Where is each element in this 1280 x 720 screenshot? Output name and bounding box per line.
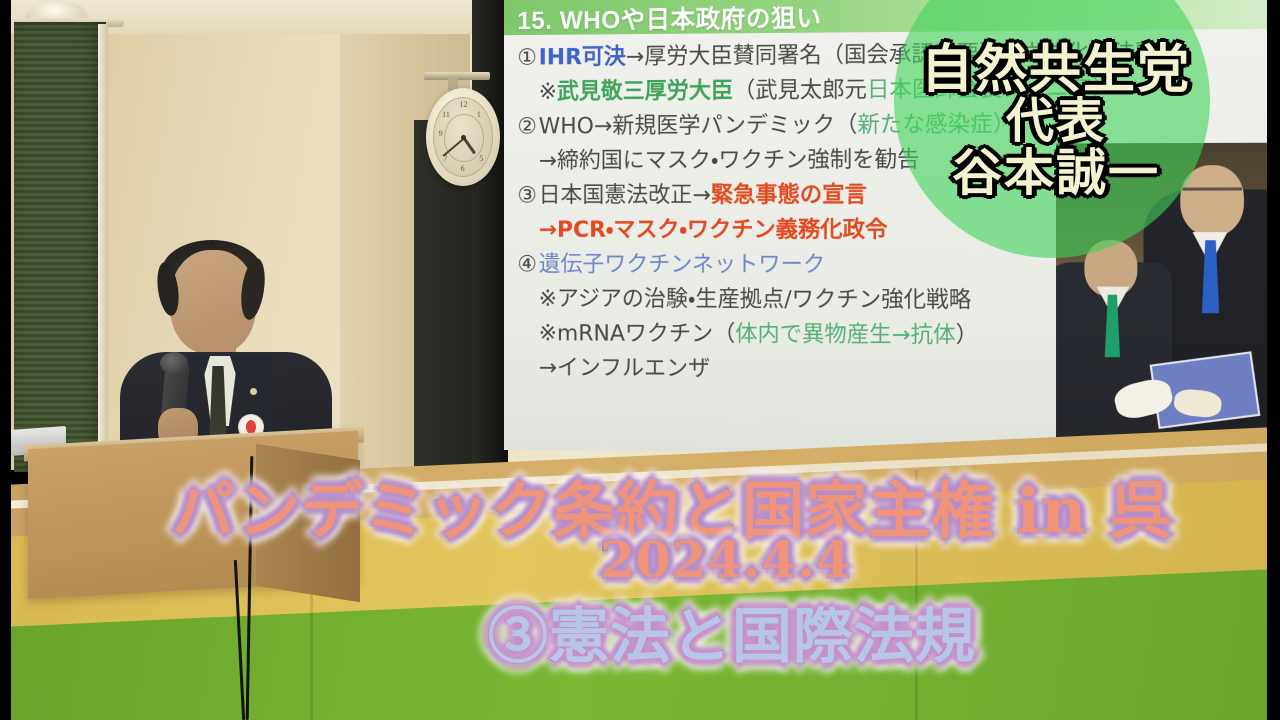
microphone-head-icon [160,352,188,374]
clock-numeral: 9 [439,129,443,138]
clock-numeral: 5 [479,154,483,163]
person-name: 谷本誠一 [856,146,1256,200]
clock-numeral: 1 [477,110,481,119]
video-frame: 12 1 5 6 7 9 11 15. WHOや日本政府の狙い ①IHR可決→厚… [0,0,1280,720]
letterbox-bar-left [0,0,11,720]
slide-header-text: 15. WHOや日本政府の狙い [517,0,821,37]
clock-numeral: 12 [460,100,468,109]
speaker-lapel-pin-icon [250,388,257,395]
clock-face: 12 1 5 6 7 9 11 [433,97,493,177]
clock-numeral: 11 [442,110,450,119]
clock-center-pin [461,135,466,140]
backdrop-seam [915,470,918,720]
party-name: 自然共生党 [856,42,1256,98]
wall-clock-icon: 12 1 5 6 7 9 11 [426,88,500,186]
speaker-identity-badge: 自然共生党 代表 谷本誠一 [856,42,1256,200]
podium-side-panel [256,444,360,602]
clock-numeral: 6 [461,164,465,173]
screen-frame-shadow [472,0,508,470]
letterbox-bar-right [1267,0,1280,720]
role-label: 代表 [856,96,1256,148]
